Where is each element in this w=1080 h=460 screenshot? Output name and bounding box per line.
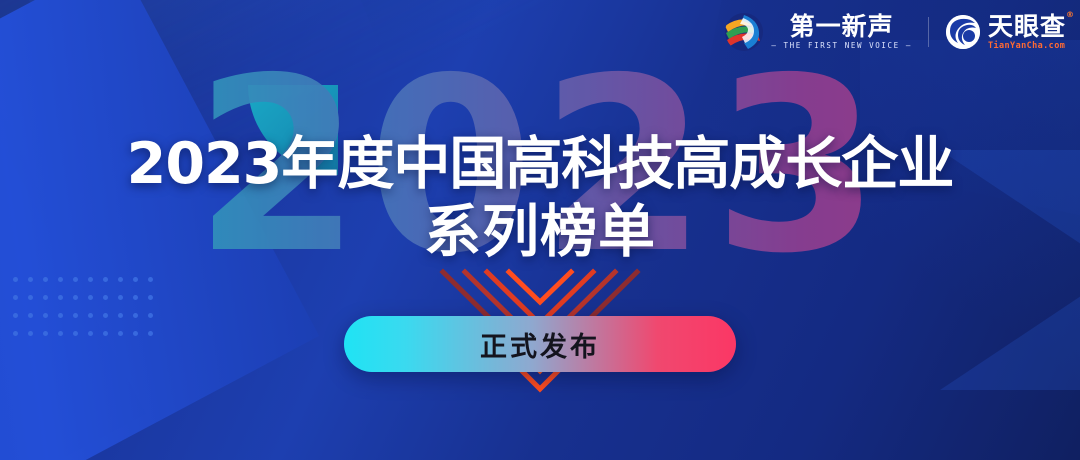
logo-divider (928, 17, 929, 47)
page-title-line-2: 系列榜单 (0, 202, 1080, 262)
logo-first-new-voice-en: — THE FIRST NEW VOICE — (771, 42, 912, 50)
camera-shutter-icon (945, 14, 981, 50)
logo-first-new-voice-cn: 第一新声 (790, 14, 894, 39)
logo-tianyancha-cn-text: 天眼查 (988, 12, 1066, 41)
page-title-line-1: 2023年度中国高科技高成长企业 (0, 134, 1080, 194)
logo-tianyancha[interactable]: 天眼查® TianYanCha.com (945, 14, 1066, 51)
official-release-label: 正式发布 (480, 325, 600, 364)
official-release-badge[interactable]: 正式发布 (344, 316, 736, 372)
logo-first-new-voice[interactable]: 第一新声 — THE FIRST NEW VOICE — (724, 12, 912, 52)
award-announcement-banner: 2023 (0, 0, 1080, 460)
logo-row: 第一新声 — THE FIRST NEW VOICE — 天眼查® Tian (724, 12, 1066, 52)
logo-tianyancha-cn: 天眼查® (988, 14, 1066, 39)
page-title: 2023年度中国高科技高成长企业 系列榜单 (0, 134, 1080, 263)
logo-tianyancha-en: TianYanCha.com (988, 42, 1066, 51)
registered-mark: ® (1066, 11, 1075, 19)
ribbon-swirl-icon (724, 12, 764, 52)
